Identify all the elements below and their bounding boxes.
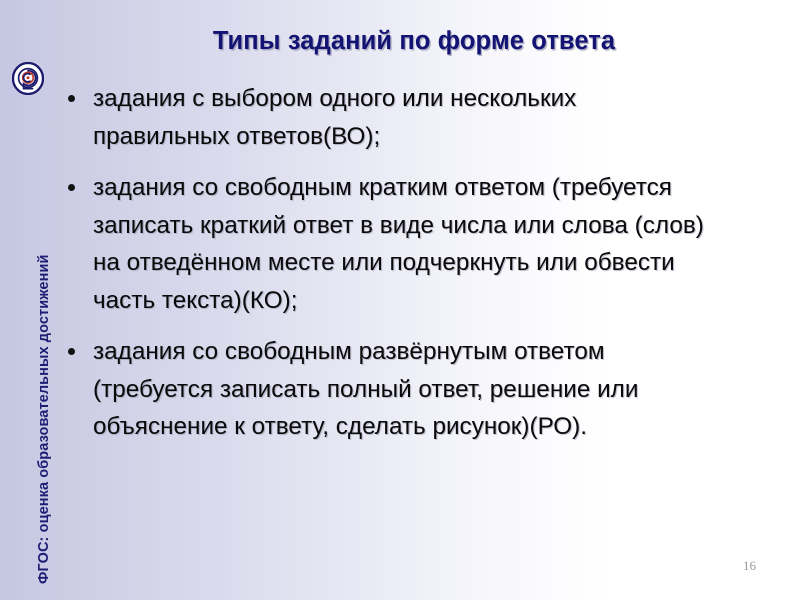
bullet-dot-icon	[68, 95, 75, 102]
slide-side-band: ФГОС: оценка образовательных достижений	[0, 0, 56, 600]
list-item-text: задания с выбором одного или нескольких …	[93, 85, 576, 150]
page-number: 16	[743, 558, 756, 574]
bullet-dot-icon	[68, 348, 75, 355]
bullet-list: задания с выбором одного или нескольких …	[62, 80, 712, 446]
list-item-text: задания со свободным развёрнутым ответом…	[93, 338, 638, 440]
list-item: задания со свободным развёрнутым ответом…	[62, 333, 712, 446]
list-item-text: задания со свободным кратким ответом (тр…	[93, 174, 704, 314]
list-item: задания со свободным кратким ответом (тр…	[62, 169, 712, 319]
list-item: задания с выбором одного или нескольких …	[62, 80, 712, 155]
presentation-slide: ФГОС: оценка образовательных достижений …	[0, 0, 800, 600]
slide-side-label-text: ФГОС: оценка образовательных достижений	[36, 255, 52, 584]
bullet-dot-icon	[68, 184, 75, 191]
slide-side-label: ФГОС: оценка образовательных достижений	[36, 88, 52, 528]
slide-title: Типы заданий по форме ответа	[56, 27, 772, 56]
